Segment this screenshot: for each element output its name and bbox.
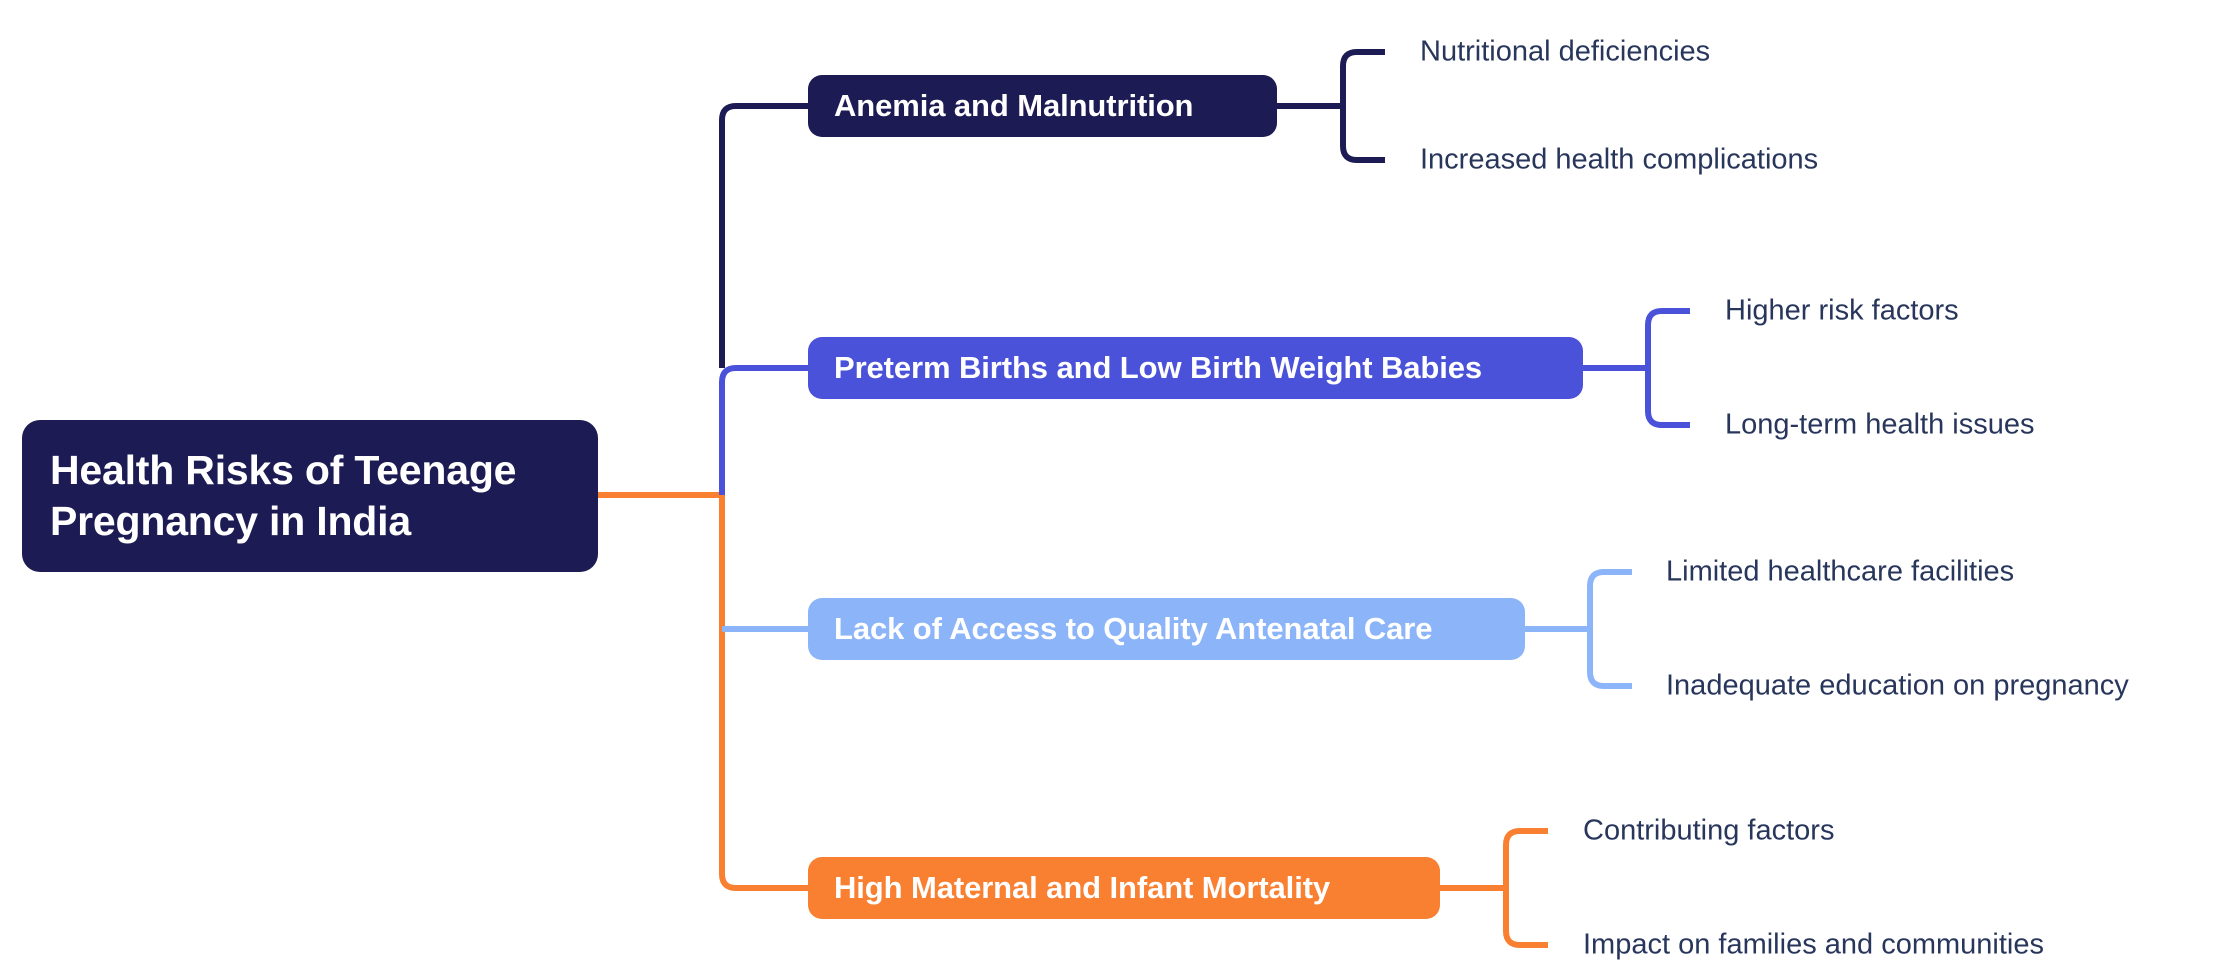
connector-branch-2-child-1 [1648, 311, 1690, 368]
root-node[interactable]: Health Risks of Teenage Pregnancy in Ind… [22, 420, 598, 572]
root-node-label: Health Risks of Teenage Pregnancy in Ind… [50, 445, 516, 548]
connector-branch-3-child-2 [1590, 629, 1632, 686]
branch-node-label: Preterm Births and Low Birth Weight Babi… [834, 350, 1482, 386]
branch-node-anemia-and-malnutrition[interactable]: Anemia and Malnutrition [808, 75, 1277, 137]
leaf-label-nutritional-deficiencies[interactable]: Nutritional deficiencies [1420, 38, 1710, 67]
branch-node-label: Anemia and Malnutrition [834, 88, 1193, 124]
connector-trunk-branch-2 [722, 368, 808, 495]
mindmap-canvas: Health Risks of Teenage Pregnancy in Ind… [0, 0, 2224, 979]
root-node-label-line2: Pregnancy in India [50, 498, 411, 544]
leaf-label-inadequate-education-on-pregnancy[interactable]: Inadequate education on pregnancy [1666, 672, 2129, 701]
connector-branch-4-child-1 [1506, 831, 1548, 888]
connector-branch-4-child-2 [1506, 888, 1548, 945]
leaf-label-limited-healthcare-facilities[interactable]: Limited healthcare facilities [1666, 558, 2014, 587]
leaf-label-higher-risk-factors[interactable]: Higher risk factors [1725, 297, 1959, 326]
leaf-label-contributing-factors[interactable]: Contributing factors [1583, 817, 1834, 846]
connector-branch-2-child-2 [1648, 368, 1690, 425]
connector-trunk-lower [722, 495, 808, 888]
branch-node-label: High Maternal and Infant Mortality [834, 870, 1330, 906]
connector-branch-3-child-1 [1590, 572, 1632, 629]
leaf-label-long-term-health-issues[interactable]: Long-term health issues [1725, 411, 2035, 440]
branch-node-preterm-births-and-low-birth-weight-babies[interactable]: Preterm Births and Low Birth Weight Babi… [808, 337, 1583, 399]
branch-node-label: Lack of Access to Quality Antenatal Care [834, 611, 1432, 647]
connector-trunk-branch-1 [722, 106, 808, 368]
connector-branch-1-child-1 [1343, 52, 1385, 106]
connector-branch-1-child-2 [1343, 106, 1385, 160]
root-node-label-line1: Health Risks of Teenage [50, 447, 516, 493]
branch-node-high-maternal-and-infant-mortality[interactable]: High Maternal and Infant Mortality [808, 857, 1440, 919]
leaf-label-impact-on-families-and-communities[interactable]: Impact on families and communities [1583, 931, 2044, 960]
branch-node-lack-of-access-to-quality-antenatal-care[interactable]: Lack of Access to Quality Antenatal Care [808, 598, 1525, 660]
leaf-label-increased-health-complications[interactable]: Increased health complications [1420, 146, 1818, 175]
